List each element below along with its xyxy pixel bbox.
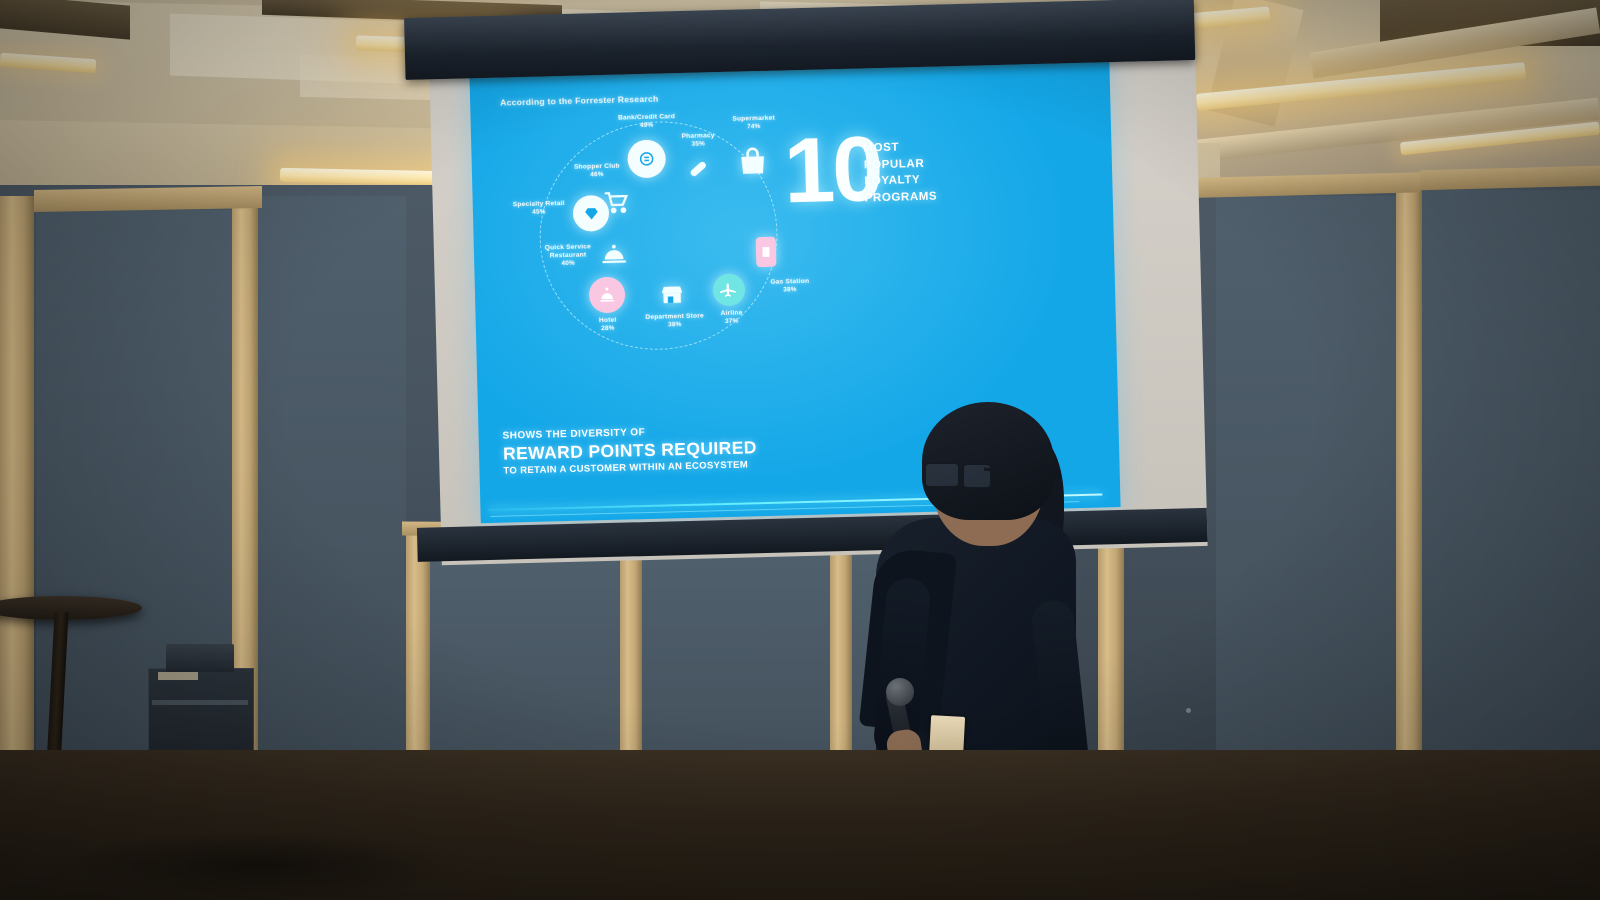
program-pct: 74%	[717, 122, 791, 132]
program-name: Shopper Club	[574, 163, 620, 171]
program-label: Supermarket 74%	[717, 114, 791, 132]
floor-shadow	[60, 830, 460, 900]
program-name: Airline	[721, 310, 743, 318]
program-label: Department Store 38%	[638, 312, 712, 330]
program-name: Pharmacy	[681, 132, 714, 140]
fuel-card-icon	[756, 237, 777, 267]
shopping-cart-icon	[600, 186, 633, 217]
wall-panel	[1420, 190, 1600, 840]
program-pct: 28%	[582, 325, 634, 334]
cart-equipment-box	[166, 644, 234, 672]
program-pct: 45%	[507, 208, 571, 218]
slide-statement: SHOWS THE DIVERSITY OF REWARD POINTS REQ…	[502, 424, 757, 476]
pill-icon	[684, 154, 713, 183]
program-pct: 46%	[564, 171, 630, 181]
eyeglasses	[924, 462, 996, 486]
program-name: Quick Service Restaurant	[545, 243, 591, 259]
wall-fixture-dot	[1186, 708, 1191, 713]
program-name: Specialty Retail	[513, 200, 565, 208]
program-label: Shopper Club 46%	[564, 162, 630, 180]
program-name: Department Store	[645, 313, 704, 321]
program-name: Gas Station	[770, 278, 809, 286]
program-label: Bank/Credit Card 49%	[603, 113, 691, 131]
store-icon	[657, 279, 688, 310]
program-label: Specialty Retail 45%	[507, 200, 571, 218]
loyalty-program-ring-diagram: Bank/Credit Card 49% Pharmacy 35%	[510, 96, 817, 374]
program-name: Hotel	[599, 317, 617, 324]
headline-word: LOYALTY	[864, 172, 937, 191]
wooden-post	[0, 196, 34, 836]
program-label: Quick Service Restaurant 40%	[530, 243, 607, 269]
program-pct: 37%	[706, 317, 758, 326]
program-name: Bank/Credit Card	[618, 113, 675, 121]
lens-right	[962, 463, 992, 489]
headline-words: MOST POPULAR LOYALTY PROGRAMS	[863, 139, 937, 208]
shopping-bag-icon	[733, 143, 772, 182]
headline-word: PROGRAMS	[865, 189, 938, 208]
headline-word: MOST	[863, 139, 936, 158]
program-label: Hotel 28%	[582, 316, 634, 334]
wall-panel	[1216, 196, 1396, 826]
microphone-head	[886, 678, 914, 706]
conference-room-scene: According to the Forrester Research Bank…	[0, 0, 1600, 900]
program-pct: 38%	[759, 286, 821, 296]
wall-panel	[256, 196, 406, 796]
cart-paper	[158, 672, 198, 680]
program-label: Airline 37%	[705, 309, 757, 327]
wall-rail	[34, 186, 262, 212]
cart-shelf	[152, 700, 248, 705]
hair	[922, 402, 1054, 520]
program-label: Gas Station 38%	[759, 278, 821, 296]
program-label: Pharmacy 35%	[663, 132, 733, 150]
headline-word: POPULAR	[864, 155, 937, 174]
program-name: Supermarket	[732, 115, 775, 123]
lens-left	[924, 462, 960, 488]
